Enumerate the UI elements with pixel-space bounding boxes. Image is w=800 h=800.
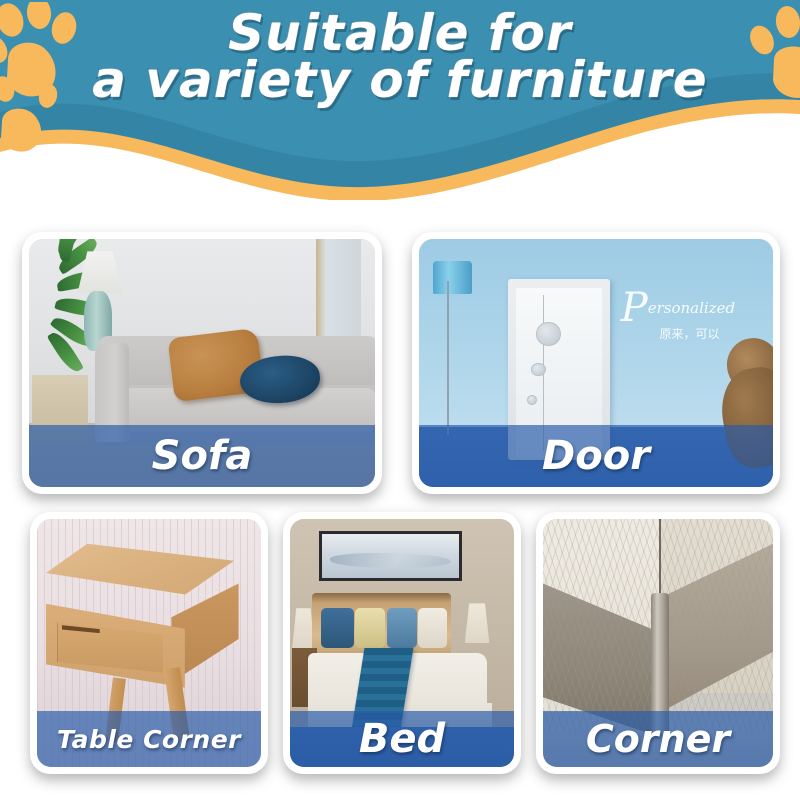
bed-pillow-gold	[355, 608, 385, 648]
title-line-2: a variety of furniture	[0, 55, 800, 106]
bed-pillow-white	[418, 608, 447, 648]
card-door-label-band: Door	[419, 425, 773, 487]
card-table-corner-inner: Table Corner	[37, 519, 261, 767]
corner-wall-seam	[659, 519, 661, 598]
door-decor-dot-large	[536, 322, 560, 346]
card-corner-inner: Corner	[543, 519, 773, 767]
header-title: Suitable for a variety of furniture	[0, 8, 800, 106]
card-bed-label: Bed	[359, 716, 445, 762]
card-corner[interactable]: Corner	[536, 512, 780, 774]
card-corner-label-band: Corner	[543, 711, 773, 767]
header-banner: Suitable for a variety of furniture	[0, 0, 800, 200]
card-sofa-label-band: Sofa	[29, 425, 375, 487]
bed-pillow-blue-2	[387, 608, 417, 648]
product-infographic-page: Suitable for a variety of furniture	[0, 0, 800, 800]
card-door[interactable]: Personalized 原来，可以 Door	[412, 232, 780, 494]
card-bed[interactable]: Bed	[283, 512, 521, 774]
bed-pillow-row	[321, 608, 446, 648]
bed-pillow-blue-1	[321, 608, 354, 648]
card-door-label: Door	[542, 433, 650, 479]
card-table-corner-label: Table Corner	[57, 725, 241, 754]
card-sofa-inner: Sofa	[29, 239, 375, 487]
floor-lamp-pole	[447, 281, 449, 435]
card-bed-inner: Bed	[290, 519, 514, 767]
floor-lamp-shade	[433, 261, 472, 293]
card-corner-label: Corner	[586, 717, 730, 761]
card-bed-label-band: Bed	[290, 711, 514, 767]
card-sofa-label: Sofa	[152, 433, 253, 479]
card-table-corner[interactable]: Table Corner	[30, 512, 268, 774]
card-door-inner: Personalized 原来，可以 Door	[419, 239, 773, 487]
framed-landscape-art	[319, 531, 462, 581]
furniture-card-grid: Sofa	[0, 200, 800, 800]
door-decor-dot-small	[527, 395, 537, 405]
card-table-corner-label-band: Table Corner	[37, 711, 261, 767]
card-sofa[interactable]: Sofa	[22, 232, 382, 494]
